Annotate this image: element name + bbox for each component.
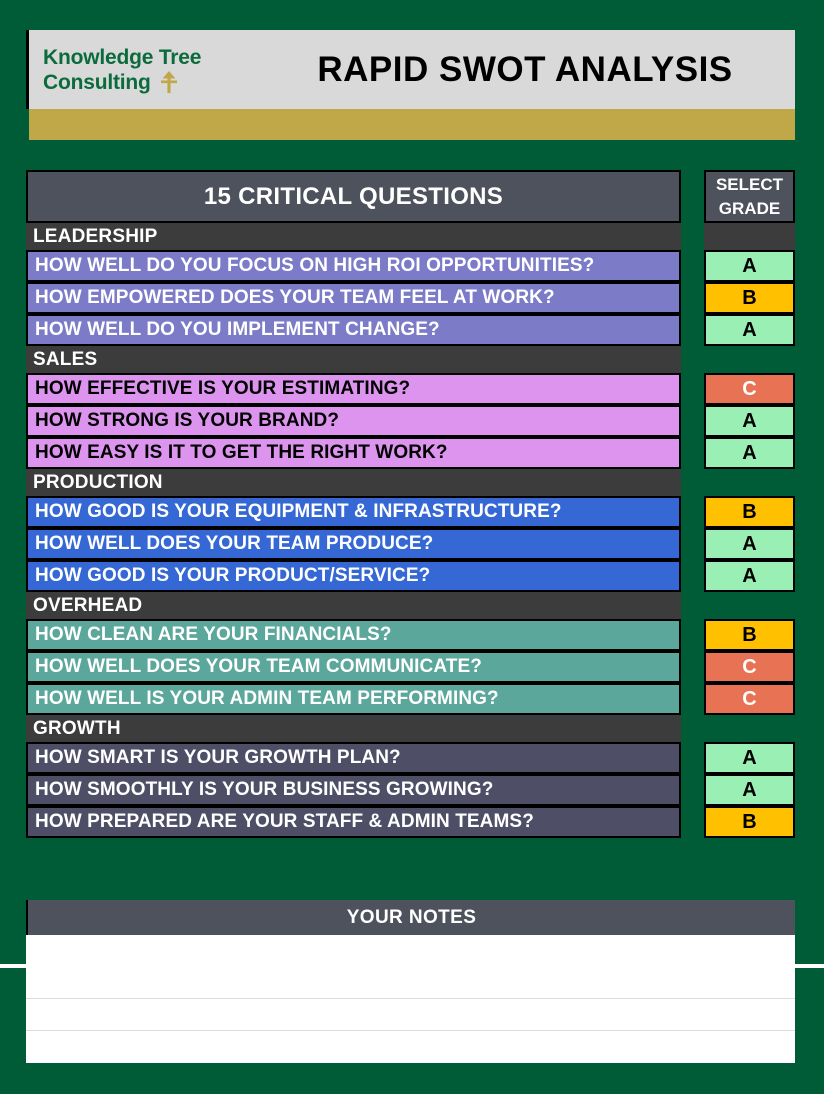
question-text: HOW EFFECTIVE IS YOUR ESTIMATING? bbox=[26, 373, 681, 405]
notes-header: YOUR NOTES bbox=[26, 900, 795, 935]
section-grade-spacer bbox=[704, 592, 795, 619]
column-gap bbox=[681, 282, 704, 314]
page-title: RAPID SWOT ANALYSIS bbox=[283, 30, 795, 109]
column-gap bbox=[681, 774, 704, 806]
column-gap bbox=[681, 528, 704, 560]
question-text: HOW SMART IS YOUR GROWTH PLAN? bbox=[26, 742, 681, 774]
grade-select[interactable]: A bbox=[704, 314, 795, 346]
grade-select[interactable]: B bbox=[704, 619, 795, 651]
section-grade-spacer bbox=[704, 223, 795, 250]
grade-select[interactable]: A bbox=[704, 528, 795, 560]
question-row: HOW SMART IS YOUR GROWTH PLAN?A bbox=[26, 742, 795, 774]
grade-select[interactable]: A bbox=[704, 250, 795, 282]
section-header-row: GROWTH bbox=[26, 715, 795, 742]
question-row: HOW WELL DO YOU IMPLEMENT CHANGE?A bbox=[26, 314, 795, 346]
section-title-sales: SALES bbox=[26, 346, 681, 373]
question-text: HOW GOOD IS YOUR PRODUCT/SERVICE? bbox=[26, 560, 681, 592]
grade-select[interactable]: B bbox=[704, 282, 795, 314]
section-grade-spacer bbox=[704, 346, 795, 373]
question-row: HOW SMOOTHLY IS YOUR BUSINESS GROWING?A bbox=[26, 774, 795, 806]
grade-header-line-2: GRADE bbox=[719, 197, 780, 221]
question-row: HOW EFFECTIVE IS YOUR ESTIMATING?C bbox=[26, 373, 795, 405]
question-row: HOW STRONG IS YOUR BRAND?A bbox=[26, 405, 795, 437]
question-row: HOW GOOD IS YOUR PRODUCT/SERVICE?A bbox=[26, 560, 795, 592]
question-row: HOW WELL IS YOUR ADMIN TEAM PERFORMING?C bbox=[26, 683, 795, 715]
question-text: HOW EMPOWERED DOES YOUR TEAM FEEL AT WOR… bbox=[26, 282, 681, 314]
question-text: HOW SMOOTHLY IS YOUR BUSINESS GROWING? bbox=[26, 774, 681, 806]
section-header-row: LEADERSHIP bbox=[26, 223, 795, 250]
column-gap bbox=[681, 683, 704, 715]
notes-lines-host bbox=[26, 935, 795, 1063]
grade-select[interactable]: C bbox=[704, 683, 795, 715]
page-title-text: RAPID SWOT ANALYSIS bbox=[317, 50, 732, 90]
header-bar: Knowledge Tree Consulting bbox=[26, 30, 795, 109]
notes-panel: YOUR NOTES bbox=[26, 900, 795, 1063]
grade-select[interactable]: C bbox=[704, 373, 795, 405]
grade-column-header: SELECT GRADE bbox=[704, 170, 795, 223]
page-fold-line bbox=[0, 964, 824, 968]
sections-host: LEADERSHIPHOW WELL DO YOU FOCUS ON HIGH … bbox=[26, 223, 795, 838]
notes-input-line[interactable] bbox=[26, 1031, 795, 1063]
question-row: HOW WELL DO YOU FOCUS ON HIGH ROI OPPORT… bbox=[26, 250, 795, 282]
logo-text-knowledge-tree: Knowledge Tree bbox=[43, 45, 201, 70]
grade-select[interactable]: C bbox=[704, 651, 795, 683]
section-header-row: OVERHEAD bbox=[26, 592, 795, 619]
notes-input-line[interactable] bbox=[26, 967, 795, 999]
grade-select[interactable]: A bbox=[704, 437, 795, 469]
question-text: HOW WELL DOES YOUR TEAM PRODUCE? bbox=[26, 528, 681, 560]
table-header-row: 15 CRITICAL QUESTIONS SELECT GRADE bbox=[26, 170, 795, 223]
question-text: HOW PREPARED ARE YOUR STAFF & ADMIN TEAM… bbox=[26, 806, 681, 838]
section-title-overhead: OVERHEAD bbox=[26, 592, 681, 619]
question-row: HOW PREPARED ARE YOUR STAFF & ADMIN TEAM… bbox=[26, 806, 795, 838]
section-grade-spacer bbox=[704, 715, 795, 742]
question-row: HOW WELL DOES YOUR TEAM PRODUCE?A bbox=[26, 528, 795, 560]
question-text: HOW WELL IS YOUR ADMIN TEAM PERFORMING? bbox=[26, 683, 681, 715]
section-title-leadership: LEADERSHIP bbox=[26, 223, 681, 250]
column-gap bbox=[681, 651, 704, 683]
grade-select[interactable]: B bbox=[704, 806, 795, 838]
grade-select[interactable]: A bbox=[704, 774, 795, 806]
header-accent-bar bbox=[29, 109, 795, 140]
grade-select[interactable]: A bbox=[704, 405, 795, 437]
company-logo: Knowledge Tree Consulting bbox=[29, 30, 283, 109]
column-gap bbox=[681, 742, 704, 774]
question-text: HOW CLEAN ARE YOUR FINANCIALS? bbox=[26, 619, 681, 651]
column-gap bbox=[681, 346, 704, 373]
question-text: HOW EASY IS IT TO GET THE RIGHT WORK? bbox=[26, 437, 681, 469]
page-header: Knowledge Tree Consulting bbox=[26, 30, 795, 140]
grade-select[interactable]: B bbox=[704, 496, 795, 528]
question-row: HOW EASY IS IT TO GET THE RIGHT WORK?A bbox=[26, 437, 795, 469]
column-gap bbox=[681, 560, 704, 592]
logo-line-2: Consulting bbox=[43, 70, 283, 95]
question-text: HOW WELL DOES YOUR TEAM COMMUNICATE? bbox=[26, 651, 681, 683]
column-gap bbox=[681, 437, 704, 469]
notes-input-line[interactable] bbox=[26, 935, 795, 967]
question-text: HOW WELL DO YOU FOCUS ON HIGH ROI OPPORT… bbox=[26, 250, 681, 282]
questions-column-header: 15 CRITICAL QUESTIONS bbox=[26, 170, 681, 223]
column-gap bbox=[681, 592, 704, 619]
section-title-growth: GROWTH bbox=[26, 715, 681, 742]
question-row: HOW GOOD IS YOUR EQUIPMENT & INFRASTRUCT… bbox=[26, 496, 795, 528]
question-row: HOW WELL DOES YOUR TEAM COMMUNICATE?C bbox=[26, 651, 795, 683]
column-gap bbox=[681, 806, 704, 838]
question-row: HOW CLEAN ARE YOUR FINANCIALS?B bbox=[26, 619, 795, 651]
grade-select[interactable]: A bbox=[704, 742, 795, 774]
column-gap bbox=[681, 715, 704, 742]
column-gap bbox=[681, 223, 704, 250]
section-header-row: PRODUCTION bbox=[26, 469, 795, 496]
column-gap bbox=[681, 469, 704, 496]
questions-table: 15 CRITICAL QUESTIONS SELECT GRADE LEADE… bbox=[26, 170, 795, 838]
question-text: HOW GOOD IS YOUR EQUIPMENT & INFRASTRUCT… bbox=[26, 496, 681, 528]
logo-text-consulting: Consulting bbox=[43, 70, 151, 95]
logo-line-1: Knowledge Tree bbox=[43, 45, 283, 70]
question-text: HOW WELL DO YOU IMPLEMENT CHANGE? bbox=[26, 314, 681, 346]
column-gap bbox=[681, 373, 704, 405]
grade-select[interactable]: A bbox=[704, 560, 795, 592]
question-text: HOW STRONG IS YOUR BRAND? bbox=[26, 405, 681, 437]
section-title-production: PRODUCTION bbox=[26, 469, 681, 496]
grade-header-line-1: SELECT bbox=[716, 173, 783, 197]
column-gap bbox=[681, 619, 704, 651]
notes-input-line[interactable] bbox=[26, 999, 795, 1031]
question-row: HOW EMPOWERED DOES YOUR TEAM FEEL AT WOR… bbox=[26, 282, 795, 314]
column-gap bbox=[681, 405, 704, 437]
section-grade-spacer bbox=[704, 469, 795, 496]
swot-worksheet-page: Knowledge Tree Consulting bbox=[0, 0, 824, 1094]
column-gap bbox=[681, 314, 704, 346]
column-gap bbox=[681, 250, 704, 282]
section-header-row: SALES bbox=[26, 346, 795, 373]
column-gap bbox=[681, 170, 704, 223]
pine-tree-icon bbox=[158, 70, 180, 94]
column-gap bbox=[681, 496, 704, 528]
